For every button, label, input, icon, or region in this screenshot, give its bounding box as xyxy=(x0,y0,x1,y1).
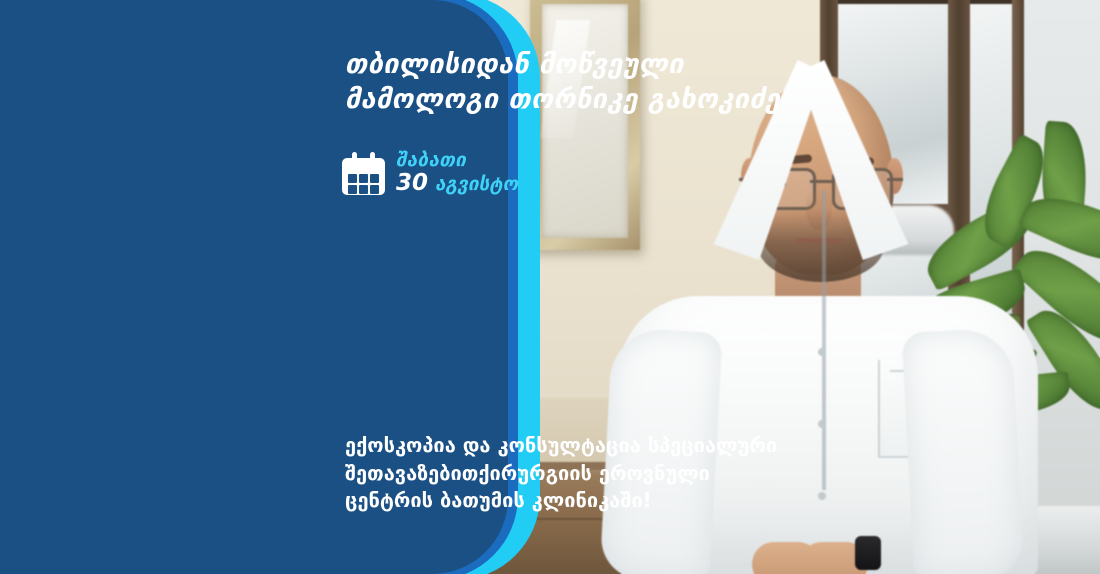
coat-placket xyxy=(822,190,826,490)
date-text: შაბათი 30 აგვისტო xyxy=(396,150,518,197)
title-line-2: მამოლოგი თორნიკე გახოკიძე xyxy=(345,83,805,118)
date-day-number: 30 xyxy=(396,171,428,197)
calendar-cell xyxy=(348,174,357,183)
subtitle-line-2: შეთავაზებითქირურგიის ეროვნული xyxy=(345,460,815,488)
date-month-name: აგვისტო xyxy=(435,174,518,195)
calendar-grid xyxy=(348,174,379,194)
calendar-cell xyxy=(370,174,379,183)
glasses-temple-right xyxy=(887,178,903,181)
event-date: შაბათი 30 აგვისტო xyxy=(342,150,518,197)
subtitle-line-1: ექოსკოპია და კონსულტაცია სპეციალური xyxy=(345,432,815,460)
promo-banner: თბილისიდან მოწვეული მამოლოგი თორნიკე გახ… xyxy=(0,0,1100,574)
banner-title: თბილისიდან მოწვეული მამოლოგი თორნიკე გახ… xyxy=(345,48,805,117)
date-day-month: 30 აგვისტო xyxy=(396,171,518,197)
banner-subtitle: ექოსკოპია და კონსულტაცია სპეციალური შეთა… xyxy=(345,432,815,515)
wristwatch xyxy=(855,536,881,570)
calendar-cell xyxy=(348,185,357,194)
arm-right xyxy=(902,327,1025,574)
subtitle-line-3: ცენტრის ბათუმის კლინიკაში! xyxy=(345,487,815,515)
calendar-cell xyxy=(359,174,368,183)
panel-content: თბილისიდან მოწვეული მამოლოგი თორნიკე გახ… xyxy=(320,0,820,574)
title-line-1: თბილისიდან მოწვეული xyxy=(345,48,805,83)
calendar-cell xyxy=(359,185,368,194)
calendar-cell xyxy=(370,185,379,194)
calendar-icon xyxy=(342,152,385,195)
calendar-body xyxy=(342,158,385,195)
date-weekday: შაბათი xyxy=(396,150,518,171)
